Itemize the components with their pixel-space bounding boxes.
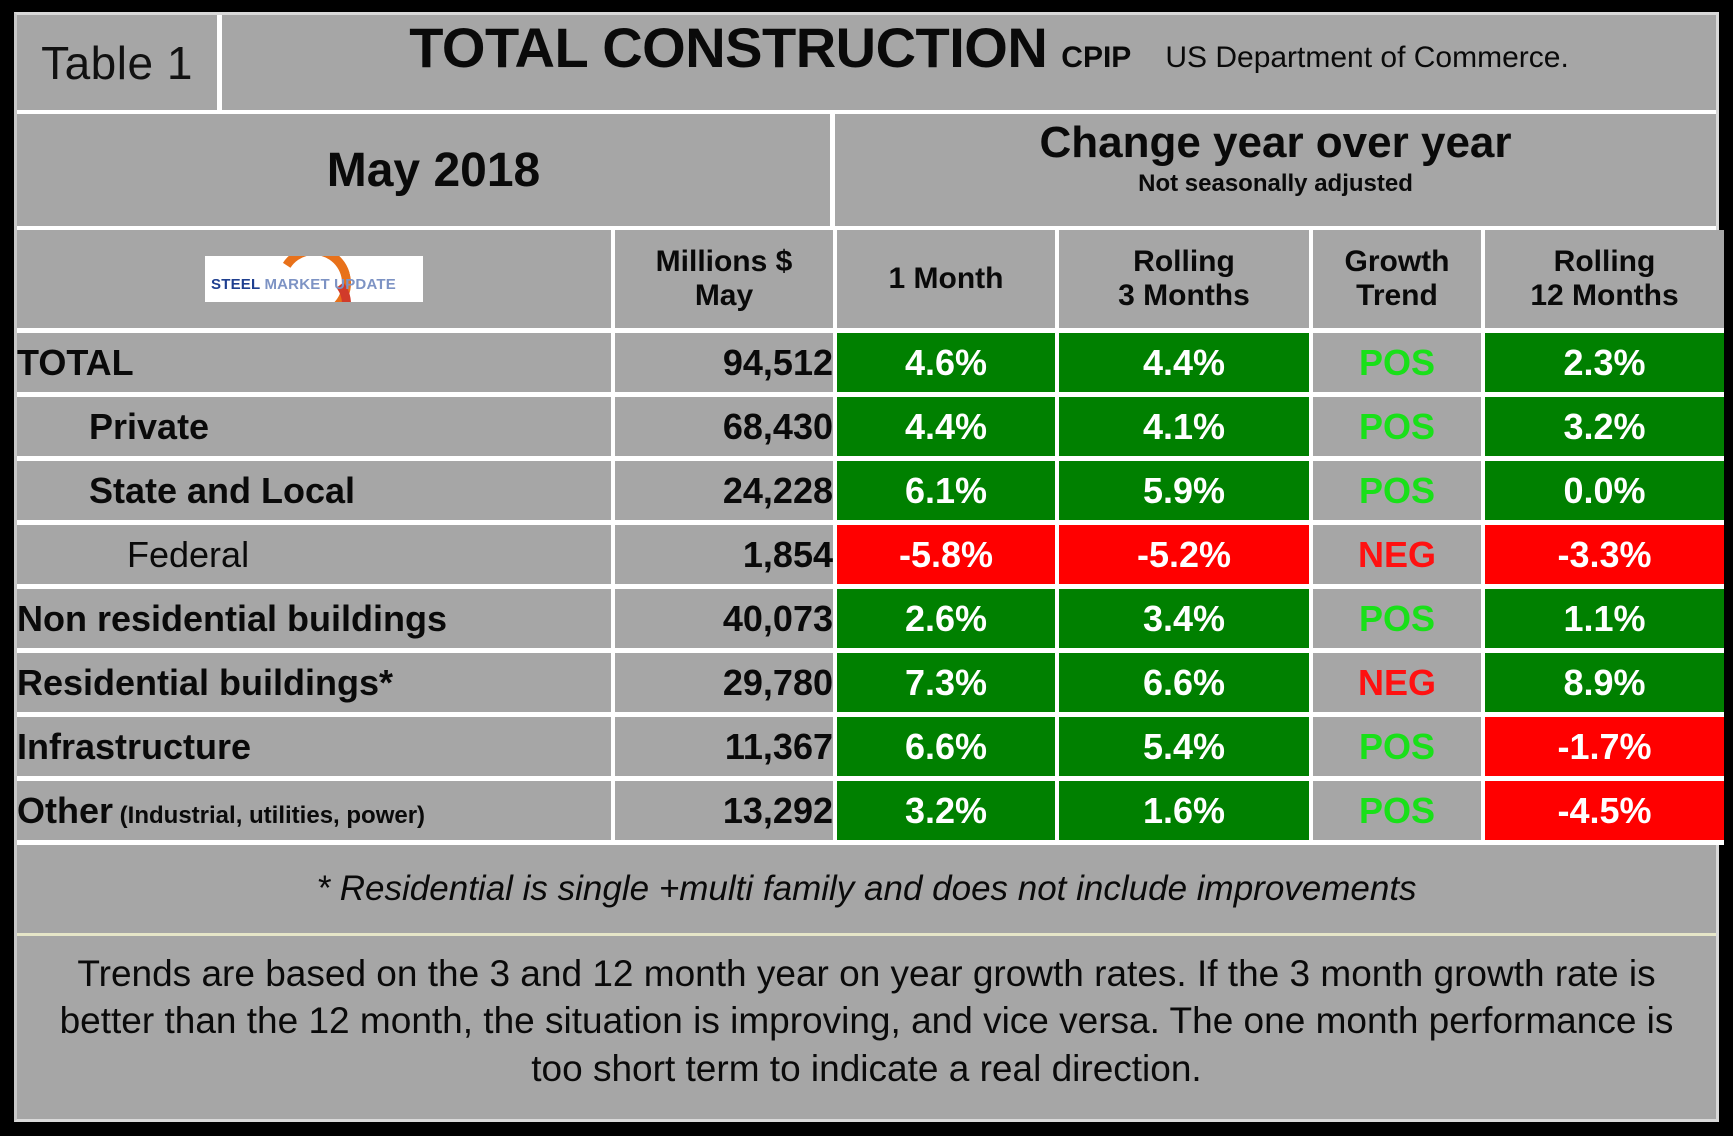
row-label-text: Other <box>17 790 113 831</box>
column-header-rolling3-line2: 3 Months <box>1118 279 1250 312</box>
row-label-text: Infrastructure <box>17 726 251 767</box>
column-header-trend-line1: Growth <box>1345 245 1450 278</box>
table-number-box: Table 1 <box>17 15 222 110</box>
table-number-label: Table 1 <box>41 36 193 90</box>
row-value-rolling-12-months: -3.3% <box>1483 523 1724 587</box>
row-label: Federal <box>17 523 613 587</box>
column-header-rolling12-line1: Rolling <box>1554 245 1656 278</box>
column-header-rolling-3-months: Rolling 3 Months <box>1057 230 1311 331</box>
row-label-text: Federal <box>127 534 249 575</box>
row-value-1-month: 4.4% <box>835 395 1057 459</box>
logo-word-steel: STEEL <box>211 276 260 293</box>
row-value-1-month: -5.8% <box>835 523 1057 587</box>
row-label: Non residential buildings <box>17 587 613 651</box>
row-value-millions: 68,430 <box>613 395 835 459</box>
row-value-millions: 40,073 <box>613 587 835 651</box>
column-header-rolling12-line2: 12 Months <box>1530 279 1678 312</box>
row-label: Residential buildings* <box>17 651 613 715</box>
footnote-row: * Residential is single +multi family an… <box>17 845 1716 936</box>
table-row: Private68,4304.4%4.1%POS3.2% <box>17 395 1724 459</box>
title-group: TOTAL CONSTRUCTION CPIP US Department of… <box>222 15 1716 110</box>
period-banner: May 2018 <box>17 114 835 226</box>
row-label: TOTAL <box>17 331 613 395</box>
row-value-rolling-12-months: 3.2% <box>1483 395 1724 459</box>
row-value-1-month: 6.1% <box>835 459 1057 523</box>
row-label-text: TOTAL <box>17 342 134 383</box>
column-header-millions-line1: Millions $ <box>656 245 793 278</box>
table-sheet: Table 1 TOTAL CONSTRUCTION CPIP US Depar… <box>14 12 1719 1122</box>
table-header-row: STEEL MARKET UPDATE Millions $ May 1 Mon… <box>17 230 1724 331</box>
column-header-growth-trend: Growth Trend <box>1311 230 1483 331</box>
row-label: Infrastructure <box>17 715 613 779</box>
row-label: Other (Industrial, utilities, power) <box>17 779 613 843</box>
column-header-millions: Millions $ May <box>613 230 835 331</box>
column-header-rolling3-line1: Rolling <box>1133 245 1235 278</box>
row-value-rolling-3-months: -5.2% <box>1057 523 1311 587</box>
table-row: TOTAL94,5124.6%4.4%POS2.3% <box>17 331 1724 395</box>
row-value-millions: 24,228 <box>613 459 835 523</box>
row-value-rolling-3-months: 5.9% <box>1057 459 1311 523</box>
row-value-rolling-3-months: 4.1% <box>1057 395 1311 459</box>
row-growth-trend: POS <box>1311 331 1483 395</box>
row-value-1-month: 3.2% <box>835 779 1057 843</box>
table-row: Federal1,854-5.8%-5.2%NEG-3.3% <box>17 523 1724 587</box>
row-growth-trend: POS <box>1311 395 1483 459</box>
table-row: State and Local24,2286.1%5.9%POS0.0% <box>17 459 1724 523</box>
row-label: State and Local <box>17 459 613 523</box>
row-label-suffix: (Industrial, utilities, power) <box>113 802 425 829</box>
data-source-label: US Department of Commerce. <box>1165 41 1568 75</box>
footnote-text: * Residential is single +multi family an… <box>316 869 1416 909</box>
row-value-millions: 29,780 <box>613 651 835 715</box>
column-header-trend-line2: Trend <box>1356 279 1438 312</box>
row-value-rolling-12-months: -1.7% <box>1483 715 1724 779</box>
row-value-1-month: 7.3% <box>835 651 1057 715</box>
row-value-rolling-3-months: 6.6% <box>1057 651 1311 715</box>
column-header-millions-line2: May <box>695 279 753 312</box>
banner-row: May 2018 Change year over year Not seaso… <box>17 114 1716 230</box>
row-value-millions: 94,512 <box>613 331 835 395</box>
column-header-rolling-12-months: Rolling 12 Months <box>1483 230 1724 331</box>
row-value-rolling-12-months: 0.0% <box>1483 459 1724 523</box>
table-row: Non residential buildings40,0732.6%3.4%P… <box>17 587 1724 651</box>
row-label-text: Private <box>89 406 209 447</box>
row-label-text: Residential buildings* <box>17 662 393 703</box>
logo-wordmark: STEEL MARKET UPDATE <box>211 277 396 294</box>
page-title: TOTAL CONSTRUCTION <box>409 15 1047 80</box>
adjustment-note: Not seasonally adjusted <box>1138 170 1413 198</box>
row-value-1-month: 4.6% <box>835 331 1057 395</box>
row-value-rolling-12-months: 8.9% <box>1483 651 1724 715</box>
column-header-1-month: 1 Month <box>835 230 1057 331</box>
series-code-label: CPIP <box>1061 41 1131 75</box>
bottom-note-text: Trends are based on the 3 and 12 month y… <box>43 950 1690 1092</box>
row-value-1-month: 6.6% <box>835 715 1057 779</box>
row-value-rolling-12-months: 1.1% <box>1483 587 1724 651</box>
row-value-millions: 1,854 <box>613 523 835 587</box>
row-label-text: State and Local <box>89 470 355 511</box>
row-value-1-month: 2.6% <box>835 587 1057 651</box>
row-value-rolling-3-months: 4.4% <box>1057 331 1311 395</box>
row-value-millions: 13,292 <box>613 779 835 843</box>
period-label: May 2018 <box>307 143 541 198</box>
row-growth-trend: POS <box>1311 459 1483 523</box>
change-banner: Change year over year Not seasonally adj… <box>835 114 1716 226</box>
logo-cell: STEEL MARKET UPDATE <box>17 230 613 331</box>
logo-word-market-update: MARKET UPDATE <box>260 276 396 293</box>
column-header-1-month-label: 1 Month <box>889 262 1004 295</box>
bottom-note-row: Trends are based on the 3 and 12 month y… <box>17 936 1716 1119</box>
row-value-rolling-12-months: -4.5% <box>1483 779 1724 843</box>
row-value-millions: 11,367 <box>613 715 835 779</box>
table-body: TOTAL94,5124.6%4.4%POS2.3%Private68,4304… <box>17 331 1724 843</box>
title-bar: Table 1 TOTAL CONSTRUCTION CPIP US Depar… <box>17 15 1716 114</box>
row-growth-trend: NEG <box>1311 651 1483 715</box>
row-value-rolling-3-months: 1.6% <box>1057 779 1311 843</box>
table-row: Residential buildings*29,7807.3%6.6%NEG8… <box>17 651 1724 715</box>
table-frame: Table 1 TOTAL CONSTRUCTION CPIP US Depar… <box>0 0 1733 1136</box>
steel-market-update-logo-icon: STEEL MARKET UPDATE <box>205 256 423 302</box>
row-label-text: Non residential buildings <box>17 598 447 639</box>
row-growth-trend: POS <box>1311 715 1483 779</box>
row-label: Private <box>17 395 613 459</box>
data-table: STEEL MARKET UPDATE Millions $ May 1 Mon… <box>17 230 1724 845</box>
row-growth-trend: NEG <box>1311 523 1483 587</box>
change-heading: Change year over year <box>1039 120 1511 166</box>
row-value-rolling-12-months: 2.3% <box>1483 331 1724 395</box>
row-growth-trend: POS <box>1311 587 1483 651</box>
row-value-rolling-3-months: 5.4% <box>1057 715 1311 779</box>
table-row: Other (Industrial, utilities, power)13,2… <box>17 779 1724 843</box>
row-growth-trend: POS <box>1311 779 1483 843</box>
row-value-rolling-3-months: 3.4% <box>1057 587 1311 651</box>
table-row: Infrastructure11,3676.6%5.4%POS-1.7% <box>17 715 1724 779</box>
